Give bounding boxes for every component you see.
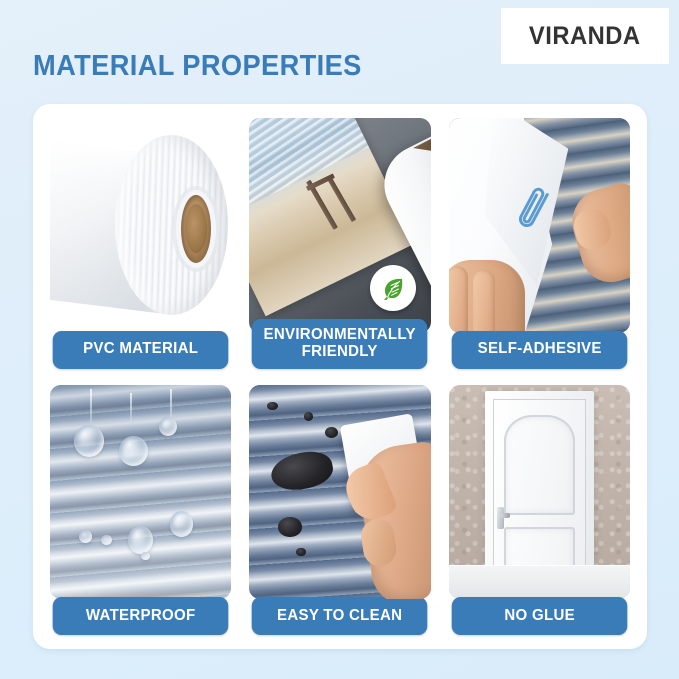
feature-card-self-adhesive[interactable]: SELF-ADHESIVE <box>449 118 630 369</box>
water-droplet <box>101 535 112 546</box>
water-droplet <box>74 425 105 457</box>
feature-image-no-glue <box>449 385 630 600</box>
feature-image-easy-to-clean <box>249 385 430 600</box>
feature-image-pvc-material <box>50 118 231 333</box>
stain-mark <box>267 402 278 411</box>
left-hand <box>449 260 525 333</box>
easy-to-clean-illustration <box>249 385 430 600</box>
feature-label-easy-to-clean: EASY TO CLEAN <box>252 597 428 635</box>
feature-image-self-adhesive <box>449 118 630 333</box>
stain-mark <box>304 412 313 421</box>
right-hand <box>564 178 630 289</box>
brand-logo-badge: VIRANDA <box>501 8 669 64</box>
water-droplet <box>128 526 153 554</box>
door-handle <box>497 507 504 529</box>
water-droplet <box>119 436 148 466</box>
feature-card-pvc-material[interactable]: PVC MATERIAL <box>50 118 231 369</box>
waterproof-illustration <box>50 385 231 600</box>
feature-label-no-glue: NO GLUE <box>451 597 627 635</box>
page-title: MATERIAL PROPERTIES <box>33 50 362 83</box>
feature-card-no-glue[interactable]: NO GLUE <box>449 385 630 636</box>
feature-label-waterproof: WATERPROOF <box>53 597 229 635</box>
feature-label-self-adhesive: SELF-ADHESIVE <box>451 331 627 369</box>
feature-image-waterproof <box>50 385 231 600</box>
door-panel-top <box>504 415 575 515</box>
water-droplet <box>79 530 92 543</box>
page-header: MATERIAL PROPERTIES VIRANDA <box>0 0 679 104</box>
feature-card-waterproof[interactable]: WATERPROOF <box>50 385 231 636</box>
stain-mark <box>268 447 336 495</box>
feature-card-environmentally-friendly[interactable]: ENVIRONMENTALLY FRIENDLY <box>249 118 430 369</box>
brand-logo-text: VIRANDA <box>529 22 641 51</box>
feature-image-environmentally-friendly <box>249 118 430 333</box>
water-droplet <box>159 417 177 436</box>
feature-label-pvc-material: PVC MATERIAL <box>53 331 229 369</box>
pvc-roll-illustration <box>50 118 231 333</box>
water-trail <box>90 389 92 428</box>
water-droplet <box>141 552 150 561</box>
stain-mark <box>325 427 338 438</box>
features-panel: PVC MATERIAL <box>33 104 647 649</box>
eco-roll-illustration <box>249 118 430 333</box>
door-illustration <box>449 385 630 600</box>
pvc-roll-body <box>115 135 227 315</box>
water-droplet <box>170 511 194 537</box>
leaf-icon <box>370 265 416 311</box>
pvc-cardboard-core <box>181 195 211 263</box>
features-grid: PVC MATERIAL <box>50 118 630 635</box>
water-trail <box>130 393 132 423</box>
baseboard <box>449 565 630 599</box>
feature-label-environmentally-friendly: ENVIRONMENTALLY FRIENDLY <box>252 319 428 369</box>
self-adhesive-illustration <box>449 118 630 333</box>
stain-mark <box>296 548 305 557</box>
stain-mark <box>278 517 302 536</box>
feature-card-easy-to-clean[interactable]: EASY TO CLEAN <box>249 385 430 636</box>
